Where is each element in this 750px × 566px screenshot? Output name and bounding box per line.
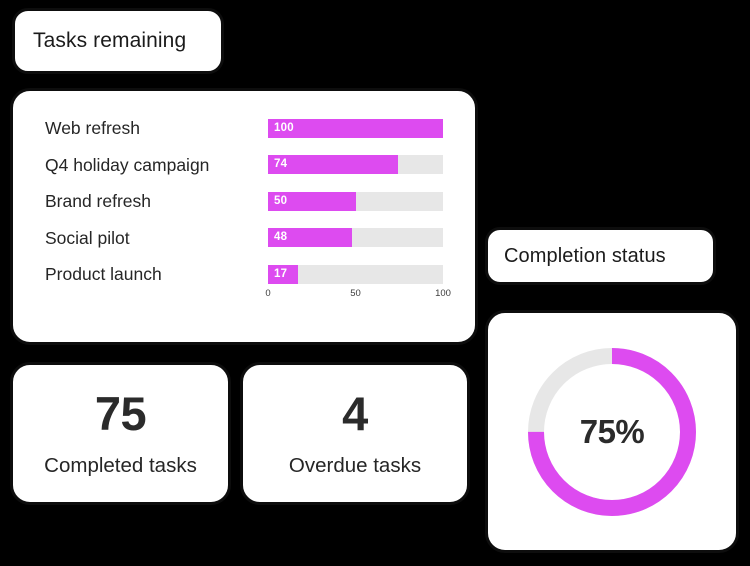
kpi-value-overdue-tasks: 4: [342, 390, 368, 437]
completion-status-title-card: Completion status: [485, 227, 716, 285]
donut-center-label: 75%: [528, 348, 696, 516]
tasks-remaining-chart-card: Web refresh100Q4 holiday campaign74Brand…: [10, 88, 478, 345]
bar-chart-row: Q4 holiday campaign74: [13, 152, 475, 178]
kpi-label-completed-tasks: Completed tasks: [44, 456, 197, 477]
bar-value-label: 74: [274, 155, 287, 174]
bar-chart-row: Social pilot48: [13, 225, 475, 251]
bar-value-label: 50: [274, 192, 287, 211]
kpi-label-overdue-tasks: Overdue tasks: [289, 456, 421, 477]
bar-track: 48: [268, 228, 443, 247]
bar-value-label: 17: [274, 265, 287, 284]
bar-category-label: Product launch: [45, 261, 162, 287]
tasks-remaining-bar-chart: Web refresh100Q4 holiday campaign74Brand…: [13, 91, 475, 342]
bar-track: 17: [268, 265, 443, 284]
bar-category-label: Social pilot: [45, 225, 130, 251]
bar-fill: [268, 155, 398, 174]
bar-track: 50: [268, 192, 443, 211]
completion-donut-chart: 75%: [528, 348, 696, 516]
bar-category-label: Brand refresh: [45, 188, 151, 214]
bar-chart-row: Product launch17: [13, 261, 475, 287]
bar-value-label: 100: [274, 119, 294, 138]
kpi-value-completed-tasks: 75: [95, 390, 146, 437]
tasks-remaining-title: Tasks remaining: [15, 29, 186, 53]
x-axis-tick-label: 50: [350, 288, 361, 299]
tasks-remaining-title-card: Tasks remaining: [12, 8, 224, 74]
bar-value-label: 48: [274, 228, 287, 247]
bar-track: 74: [268, 155, 443, 174]
completion-status-title: Completion status: [488, 245, 666, 268]
bar-chart-row: Brand refresh50: [13, 188, 475, 214]
chart-x-axis: 050100: [268, 288, 443, 304]
bar-chart-row: Web refresh100: [13, 115, 475, 141]
dashboard-canvas: Tasks remaining Web refresh100Q4 holiday…: [0, 0, 750, 566]
x-axis-tick-label: 0: [265, 288, 270, 299]
completion-status-chart-card: 75%: [485, 310, 739, 553]
kpi-card-overdue-tasks: 4 Overdue tasks: [240, 362, 470, 505]
bar-category-label: Q4 holiday campaign: [45, 152, 209, 178]
bar-track: 100: [268, 119, 443, 138]
kpi-card-completed-tasks: 75 Completed tasks: [10, 362, 231, 505]
x-axis-tick-label: 100: [435, 288, 451, 299]
bar-category-label: Web refresh: [45, 115, 140, 141]
donut-chart-wrapper: 75%: [488, 313, 736, 550]
bar-fill: [268, 119, 443, 138]
